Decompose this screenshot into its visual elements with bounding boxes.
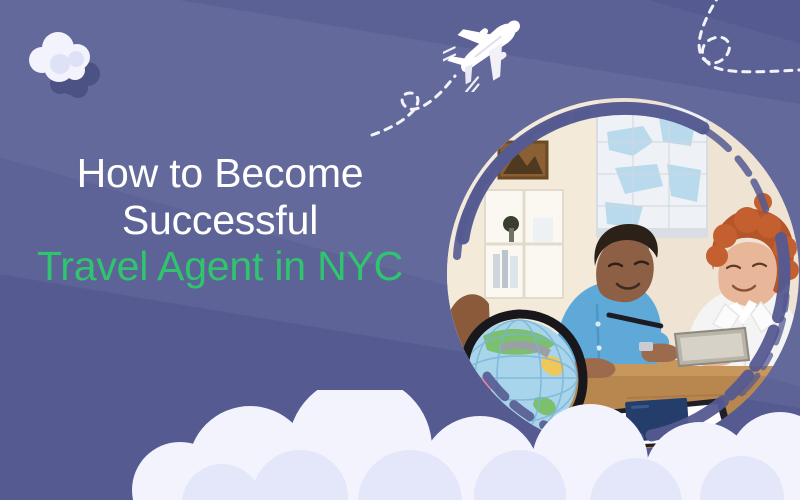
headline-line-2: Successful [0, 197, 440, 244]
airplane-icon [443, 8, 531, 92]
headline: How to Become Successful Travel Agent in… [0, 150, 440, 290]
travel-blog-banner: How to Become Successful Travel Agent in… [0, 0, 800, 500]
headline-line-1: How to Become [0, 150, 440, 197]
cloud-bank-icon [0, 390, 800, 500]
flight-path-right-icon [699, 0, 800, 72]
headline-line-3-accent: Travel Agent in NYC [0, 243, 440, 290]
cloud-icon [18, 22, 114, 104]
tablet-icon [675, 328, 749, 366]
